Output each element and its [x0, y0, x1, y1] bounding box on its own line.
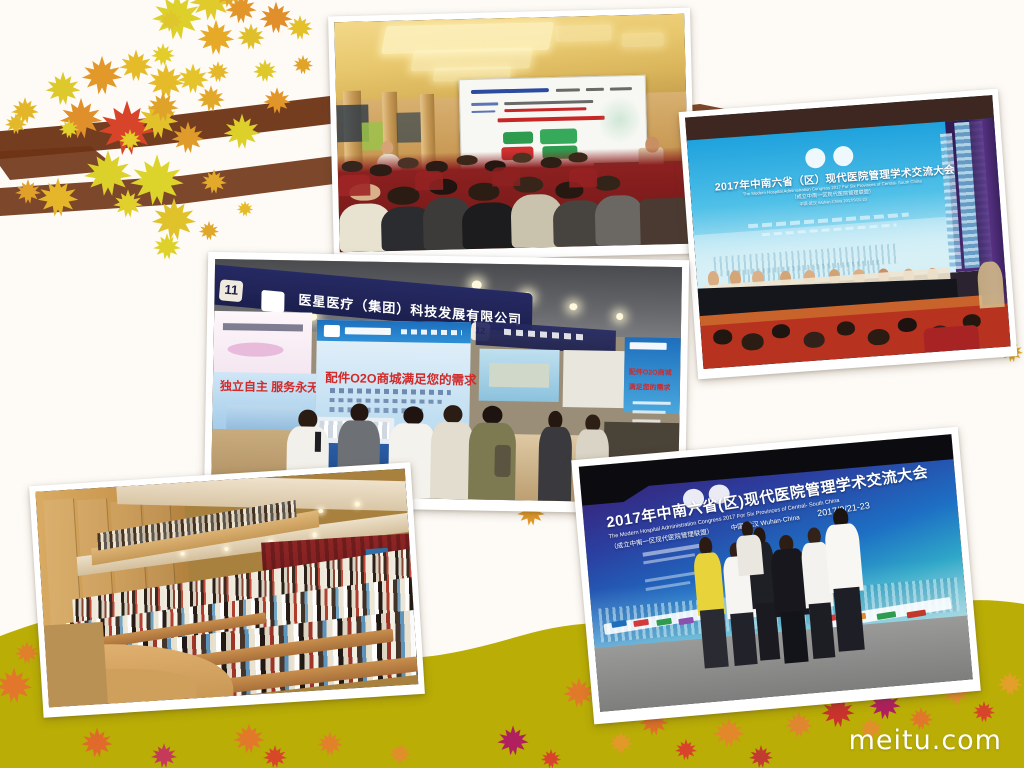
booth-number-11: 11: [218, 279, 243, 302]
maple-leaf-cluster-top-left: [5, 0, 265, 216]
photo-main-stage[interactable]: 2017年中南六省（区）现代医院管理学术交流大会 The Modern Hosp…: [679, 89, 1018, 380]
booth-logo: [261, 290, 285, 313]
watermark-meitu: meitu.com: [849, 725, 1002, 756]
maple-leaf-cluster-upper-branch: [119, 0, 313, 150]
photo-conference-slide[interactable]: [328, 8, 696, 263]
auditorium-scene: [35, 469, 418, 708]
maple-leaf-cluster-top-center: [113, 59, 291, 240]
conference-hall-scene: [334, 14, 690, 252]
person: [734, 520, 765, 576]
photo-group-banner[interactable]: 2017年中南六省(区)现代医院管理学术交流大会 The Modern Hosp…: [571, 427, 981, 725]
group-photo-scene: 2017年中南六省(区)现代医院管理学术交流大会 The Modern Hosp…: [579, 434, 973, 712]
collage-canvas: 2017年中南六省（区）现代医院管理学术交流大会 The Modern Hosp…: [0, 0, 1024, 768]
main-stage-scene: 2017年中南六省（区）现代医院管理学术交流大会 The Modern Hosp…: [685, 95, 1011, 369]
booth-poster-headline: 配件O2O商城满足您的需求: [325, 367, 477, 389]
photo-auditorium[interactable]: [29, 462, 425, 718]
